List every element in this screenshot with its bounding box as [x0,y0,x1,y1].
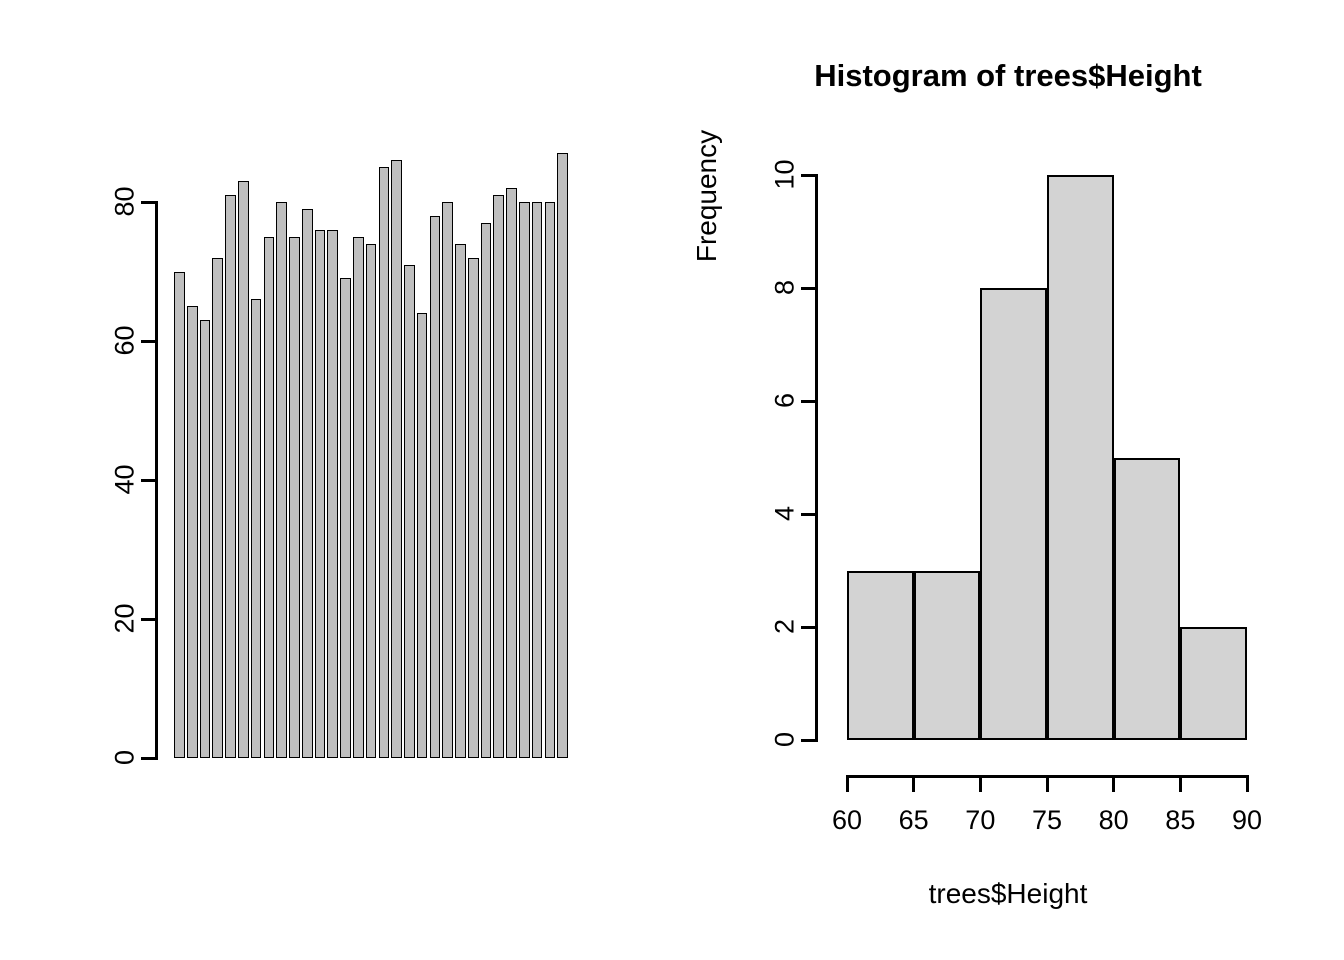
barplot-bar [391,160,402,758]
barplot-bar [212,258,223,758]
histogram-y-tick-label: 4 [772,484,799,544]
barplot-bar [315,230,326,758]
histogram-bar [980,288,1047,740]
barplot-bar [404,265,415,758]
barplot-bar [532,202,543,758]
histogram-title: Histogram of trees$Height [672,58,1344,94]
r-graphics-canvas: 020406080 Histogram of trees$Height Freq… [0,0,1344,960]
barplot-y-tick [141,618,158,621]
barplot-bar [545,202,556,758]
barplot-bar [493,195,504,758]
barplot-bar [481,223,492,758]
histogram-y-tick-label: 8 [772,258,799,318]
histogram-y-tick [801,174,818,177]
barplot-y-tick-label: 0 [112,728,139,788]
histogram-x-axis-label: trees$Height [672,878,1344,910]
barplot-bar [442,202,453,758]
barplot-bar [174,272,185,759]
barplot-bar [187,306,198,758]
histogram-panel: Histogram of trees$Height Frequency tree… [672,0,1344,960]
barplot-bar [468,258,479,758]
barplot-bar [353,237,364,758]
barplot-bar [276,202,287,758]
barplot-bar [430,216,441,758]
histogram-x-tick-label: 90 [1207,807,1287,834]
histogram-y-tick [801,739,818,742]
histogram-y-tick-label: 0 [772,710,799,770]
barplot-panel: 020406080 [0,0,672,960]
histogram-x-tick [846,775,849,792]
barplot-y-tick [141,340,158,343]
histogram-bar [847,571,914,741]
barplot-bar [366,244,377,758]
histogram-x-tick [1179,775,1182,792]
barplot-bar [455,244,466,758]
barplot-bar [327,230,338,758]
barplot-y-tick [141,757,158,760]
histogram-bar [1180,627,1247,740]
barplot-bar [506,188,517,758]
histogram-plot-area [847,175,1247,740]
histogram-y-axis-line [815,175,818,740]
histogram-y-tick [801,513,818,516]
histogram-y-tick-label: 10 [772,145,799,205]
barplot-y-tick [141,479,158,482]
barplot-bar [238,181,249,758]
histogram-y-tick-label: 2 [772,597,799,657]
histogram-x-tick [1112,775,1115,792]
histogram-x-tick [979,775,982,792]
histogram-y-axis-label: Frequency [691,76,723,316]
histogram-x-tick [912,775,915,792]
barplot-bar [379,167,390,758]
histogram-x-tick [1046,775,1049,792]
barplot-bar [417,313,428,758]
histogram-y-tick [801,400,818,403]
barplot-y-tick-label: 80 [112,172,139,232]
histogram-bar [914,571,981,741]
histogram-y-tick-label: 6 [772,371,799,431]
barplot-bar [225,195,236,758]
histogram-y-tick [801,287,818,290]
barplot-plot-area [172,140,568,758]
histogram-x-tick [1246,775,1249,792]
barplot-bar [251,299,262,758]
barplot-bar [519,202,530,758]
barplot-bar [200,320,211,758]
barplot-bar [557,153,568,758]
barplot-bar [289,237,300,758]
barplot-bar [264,237,275,758]
histogram-bar [1047,175,1114,740]
barplot-bar [302,209,313,758]
barplot-y-tick-label: 40 [112,450,139,510]
barplot-bar [340,278,351,758]
histogram-y-tick [801,626,818,629]
barplot-y-tick-label: 60 [112,311,139,371]
barplot-y-tick [141,201,158,204]
barplot-y-tick-label: 20 [112,589,139,649]
histogram-bar [1114,458,1181,741]
